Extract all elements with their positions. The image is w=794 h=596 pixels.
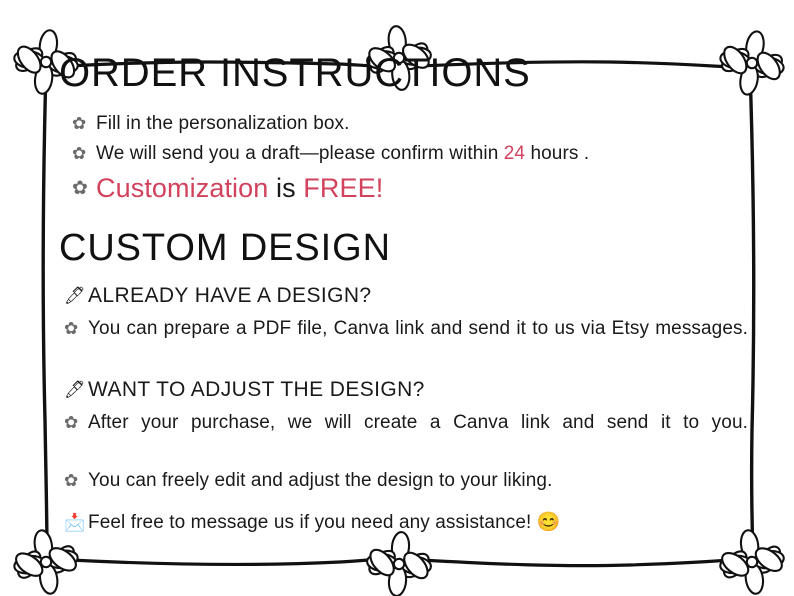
pen-icon: 🖊 bbox=[64, 373, 88, 407]
order-instructions-card: ORDER INSTRUCTIONS ✿Fill in the personal… bbox=[0, 0, 794, 596]
plain-text: is bbox=[268, 173, 303, 203]
flower-bullet-icon: ✿ bbox=[72, 170, 96, 206]
plain-text: We will send you a draft—please confirm … bbox=[96, 143, 504, 164]
bottom-left-border-line bbox=[70, 559, 378, 564]
custom-design-list: 🖊ALREADY HAVE A DESIGN?✿You can prepare … bbox=[58, 279, 748, 495]
card-content: ORDER INSTRUCTIONS ✿Fill in the personal… bbox=[58, 52, 748, 530]
plain-text: Fill in the personalization box. bbox=[96, 113, 350, 134]
list-item-label: ALREADY HAVE A DESIGN? bbox=[88, 279, 748, 313]
list-item: 🖊WANT TO ADJUST THE DESIGN? bbox=[64, 373, 748, 407]
pen-icon: 🖊 bbox=[64, 279, 88, 313]
footer-spacer bbox=[58, 497, 748, 509]
list-item-label: You can prepare a PDF file, Canva link a… bbox=[88, 315, 748, 371]
flower-icon-bottom-center bbox=[363, 529, 435, 596]
plain-text: Feel free to message us if you need any … bbox=[88, 512, 561, 533]
footer-message-row: 📩 Feel free to message us if you need an… bbox=[58, 509, 748, 537]
plain-text: After your purchase, we will create a Ca… bbox=[88, 412, 748, 433]
list-item: 🖊ALREADY HAVE A DESIGN? bbox=[64, 279, 748, 313]
bottom-right-border-line bbox=[422, 560, 730, 566]
flower-bullet-icon: ✿ bbox=[64, 467, 88, 495]
plain-text: WANT TO ADJUST THE DESIGN? bbox=[88, 378, 425, 401]
flower-bullet-icon: ✿ bbox=[64, 315, 88, 343]
list-item: ✿After your purchase, we will create a C… bbox=[64, 409, 748, 465]
section-title-custom-design: CUSTOM DESIGN bbox=[59, 228, 748, 268]
list-item: ✿Fill in the personalization box. bbox=[72, 110, 748, 138]
list-item-label: WANT TO ADJUST THE DESIGN? bbox=[88, 373, 748, 407]
accent-text: FREE! bbox=[303, 173, 383, 203]
list-item: ✿Customization is FREE! bbox=[72, 170, 748, 206]
flower-bullet-icon: ✿ bbox=[72, 110, 96, 138]
footer-message-text: Feel free to message us if you need any … bbox=[88, 509, 748, 537]
page-title-order-instructions: ORDER INSTRUCTIONS bbox=[59, 52, 748, 94]
flower-bullet-icon: ✿ bbox=[72, 140, 96, 168]
list-item-label: We will send you a draft—please confirm … bbox=[96, 140, 748, 168]
plain-text: You can freely edit and adjust the desig… bbox=[88, 470, 552, 491]
list-item-label: Fill in the personalization box. bbox=[96, 110, 748, 138]
list-item-label: Customization is FREE! bbox=[96, 170, 748, 206]
list-item: ✿You can freely edit and adjust the desi… bbox=[64, 467, 748, 495]
accent-text: Customization bbox=[96, 173, 268, 203]
flower-bullet-icon: ✿ bbox=[64, 409, 88, 437]
order-instructions-list: ✿Fill in the personalization box.✿We wil… bbox=[58, 110, 748, 206]
plain-text: hours . bbox=[525, 143, 589, 164]
list-item: ✿You can prepare a PDF file, Canva link … bbox=[64, 315, 748, 371]
list-item-label: You can freely edit and adjust the desig… bbox=[88, 467, 748, 495]
accent-text: 24 bbox=[504, 143, 525, 164]
left-border-line bbox=[43, 68, 47, 552]
right-border-line bbox=[750, 70, 754, 556]
incoming-envelope-icon: 📩 bbox=[64, 509, 88, 537]
list-item-label: After your purchase, we will create a Ca… bbox=[88, 409, 748, 465]
list-item: ✿We will send you a draft—please confirm… bbox=[72, 140, 748, 168]
plain-text: You can prepare a PDF file, Canva link a… bbox=[88, 318, 748, 339]
plain-text: ALREADY HAVE A DESIGN? bbox=[88, 284, 371, 307]
